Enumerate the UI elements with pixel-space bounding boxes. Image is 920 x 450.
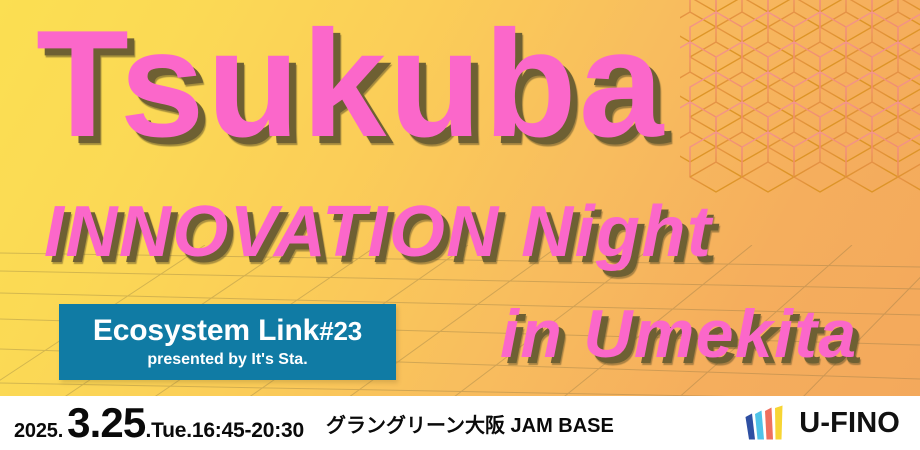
date-detail: .Tue.16:45-20:30 bbox=[145, 419, 304, 443]
series-title-row: Ecosystem Link#23 bbox=[93, 315, 362, 347]
brand-name: U-FINO bbox=[799, 407, 900, 440]
info-bar: 2025.3.25.Tue.16:45-20:30 グラングリーン大阪 JAM … bbox=[0, 396, 920, 450]
event-banner: Tsukuba INNOVATION Night in Umekita Ecos… bbox=[0, 0, 920, 450]
date-year: 2025. bbox=[14, 420, 63, 443]
series-badge: Ecosystem Link#23 presented by It's Sta. bbox=[59, 304, 396, 380]
event-date: 2025.3.25.Tue.16:45-20:30 bbox=[14, 399, 304, 447]
event-title-sub: INNOVATION Night bbox=[44, 196, 712, 268]
date-day: 3.25 bbox=[67, 399, 145, 447]
event-venue: グラングリーン大阪 JAM BASE bbox=[326, 409, 614, 438]
series-presenter: presented by It's Sta. bbox=[147, 351, 307, 369]
brand-lockup: U-FINO bbox=[744, 405, 906, 441]
event-title-place: in Umekita bbox=[500, 300, 858, 368]
series-number: #23 bbox=[319, 316, 362, 346]
series-title-text: Ecosystem Link bbox=[93, 314, 319, 347]
event-title-main: Tsukuba bbox=[36, 8, 666, 160]
u-fino-logo-icon bbox=[744, 405, 790, 441]
